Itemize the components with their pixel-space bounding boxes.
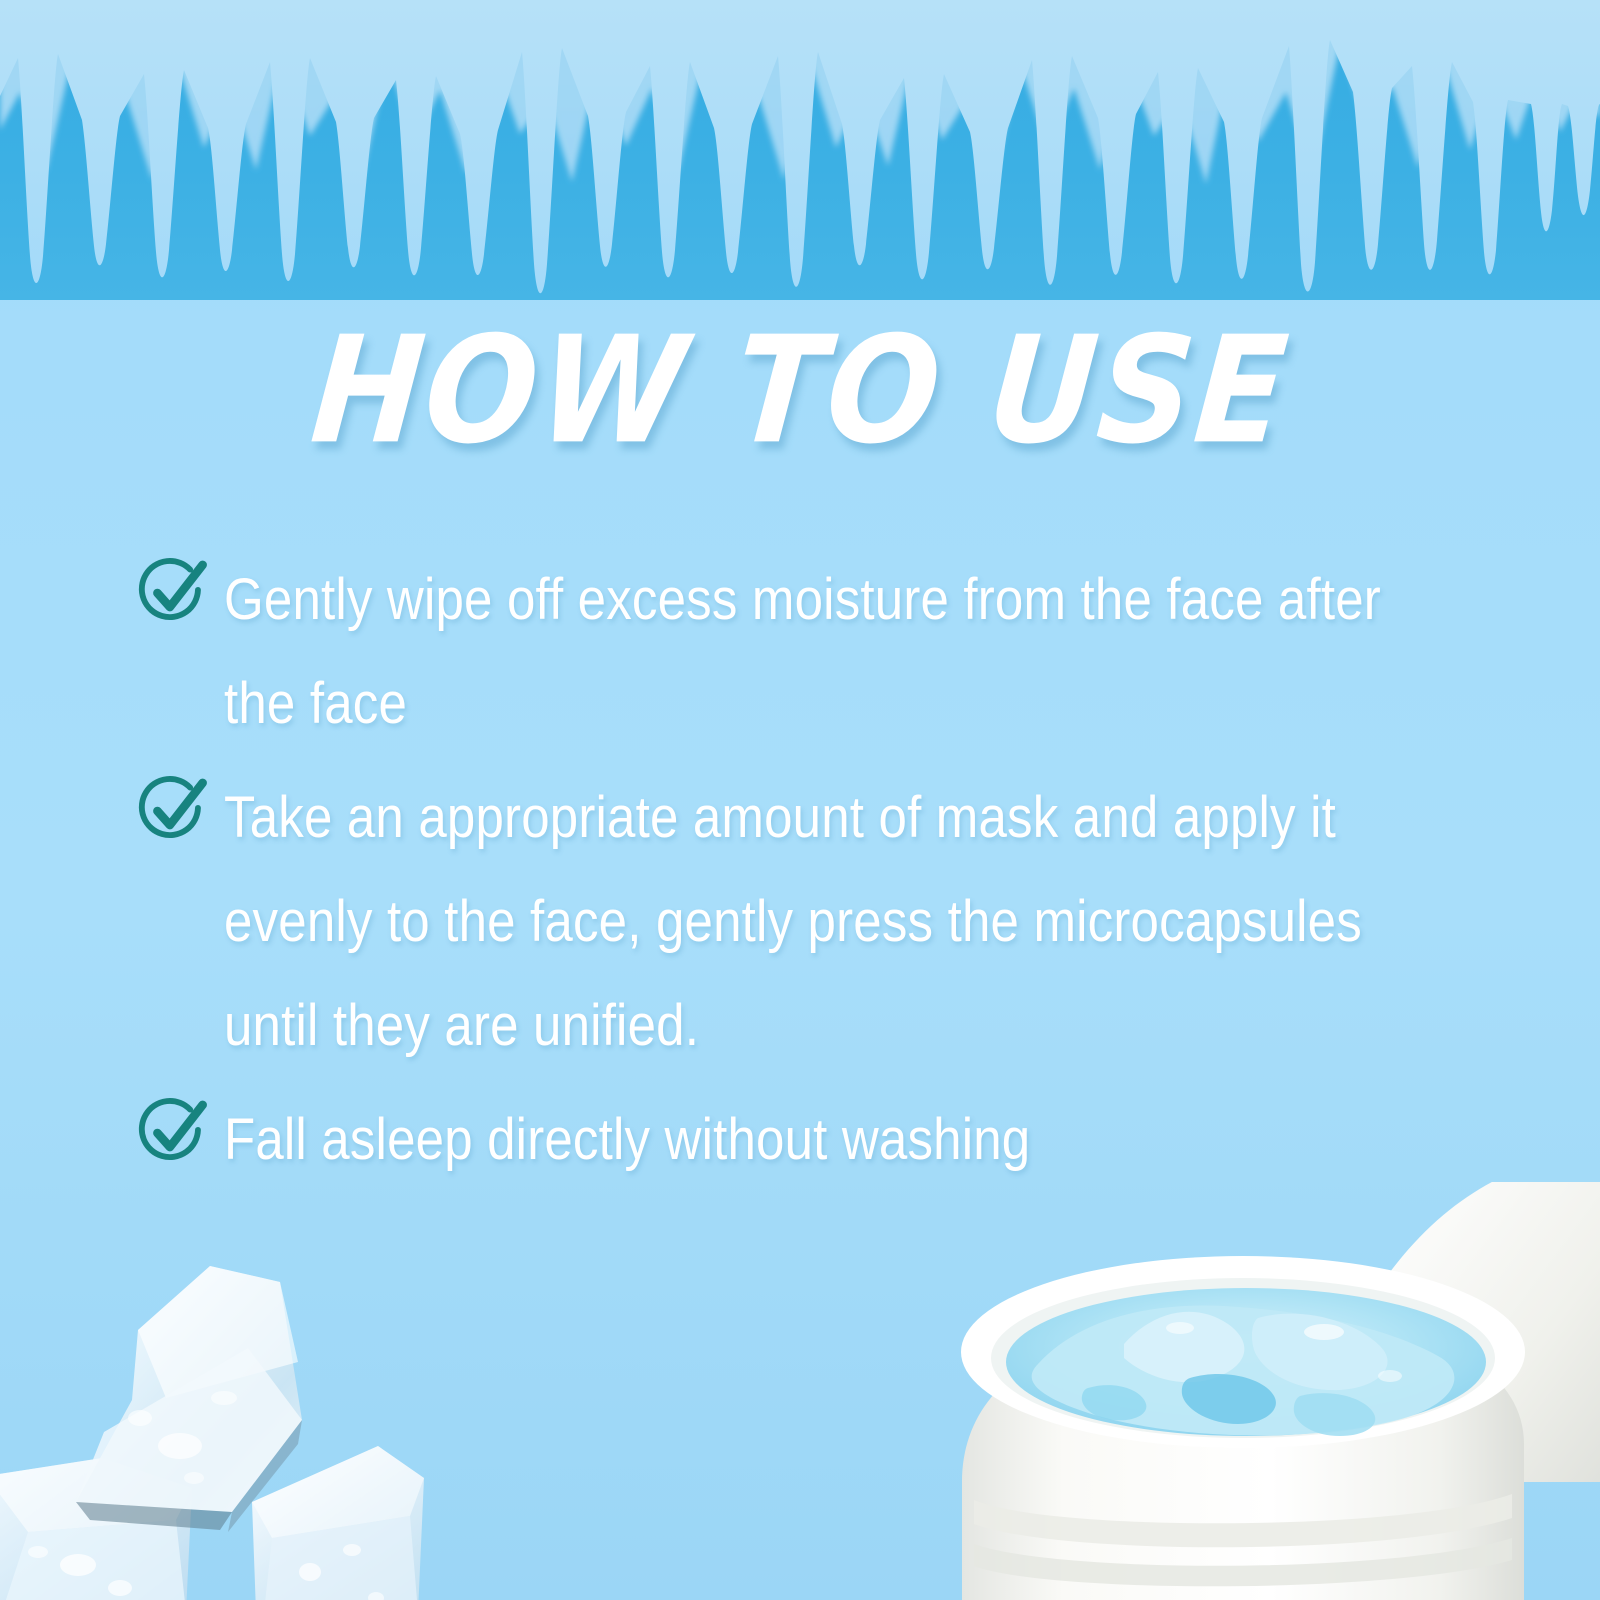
list-item-label: Fall asleep directly without washing (224, 1088, 1389, 1192)
list-item: Take an appropriate amount of mask and a… (128, 766, 1548, 1078)
ice-cube-top (76, 1266, 302, 1532)
list-item-label: Take an appropriate amount of mask and a… (224, 766, 1389, 1078)
icicle-shapes-icon (0, 0, 1600, 300)
steps-list: Gently wipe off excess moisture from the… (128, 548, 1548, 1202)
page-title: HOW TO USE (306, 314, 1294, 469)
poster-canvas: HOW TO USE Gently wipe off excess moistu… (0, 0, 1600, 1600)
list-item: Fall asleep directly without washing (128, 1088, 1548, 1192)
ice-cubes-photo (0, 1220, 500, 1600)
cream-jar-photo (928, 1182, 1600, 1600)
check-circle-icon (134, 554, 212, 632)
icicle-border (0, 0, 1600, 300)
page-title-container: HOW TO USE (0, 322, 1600, 461)
list-item-label: Gently wipe off excess moisture from the… (224, 548, 1389, 756)
cream-content (1006, 1288, 1486, 1436)
check-circle-icon (134, 772, 212, 850)
check-circle-icon (134, 1094, 212, 1172)
list-item: Gently wipe off excess moisture from the… (128, 548, 1548, 756)
